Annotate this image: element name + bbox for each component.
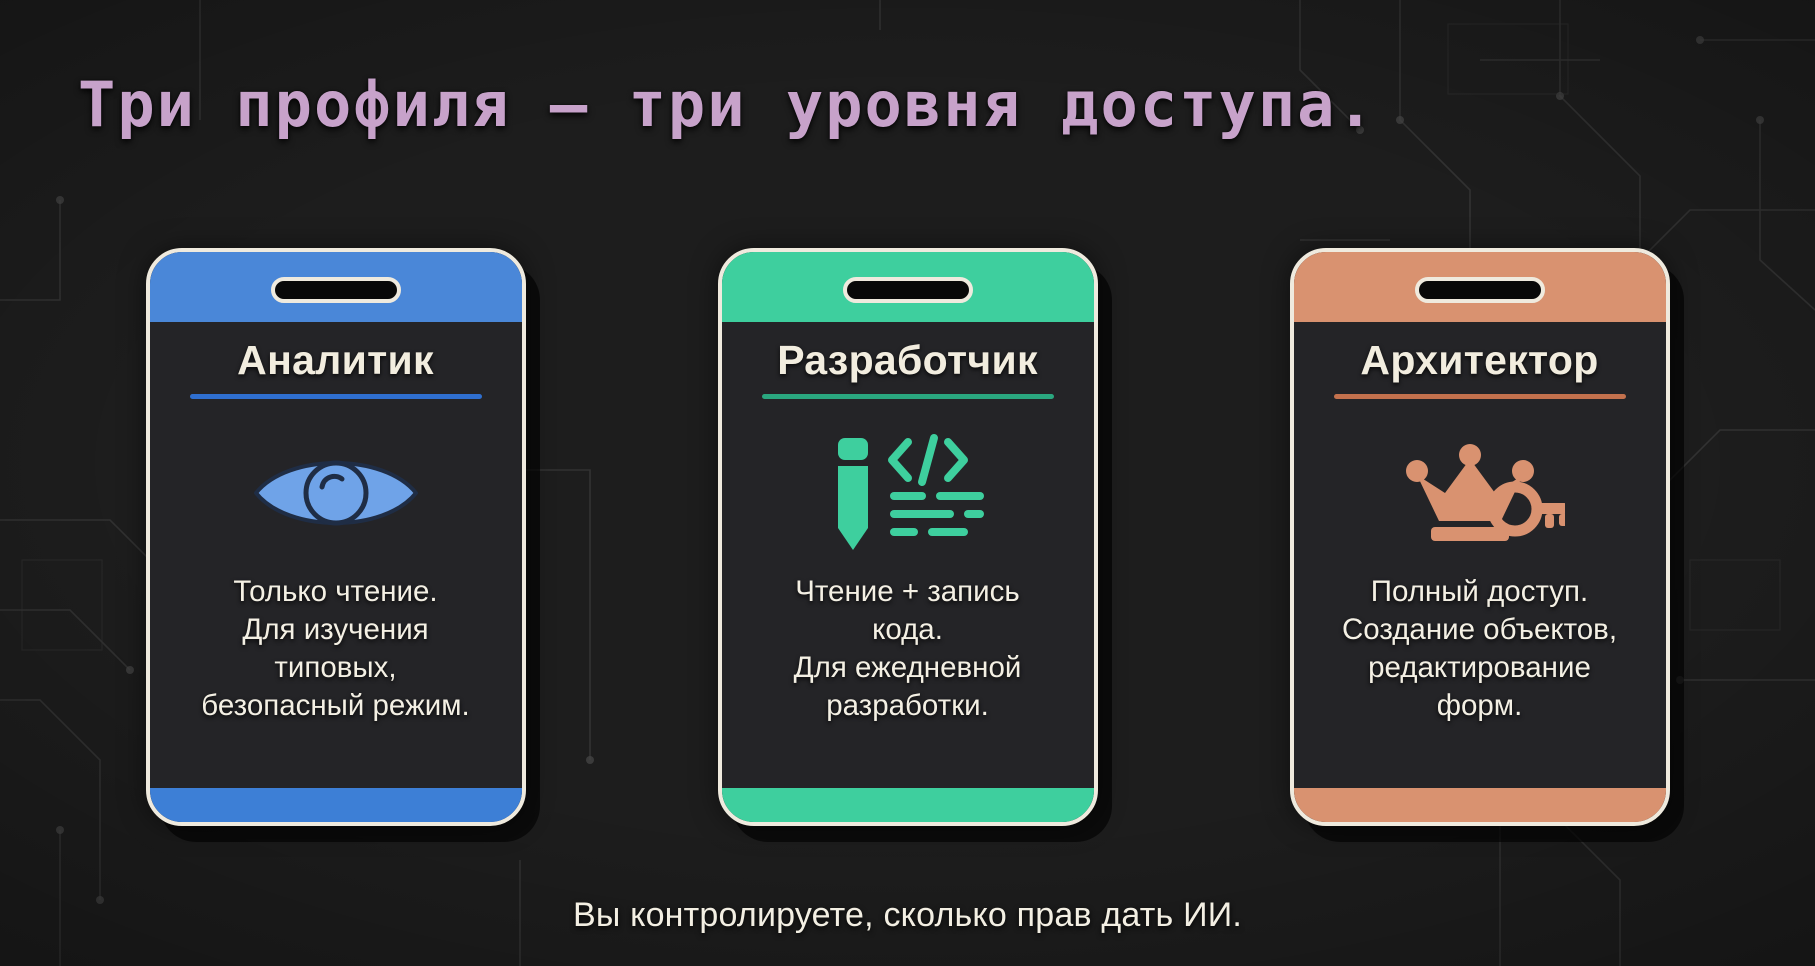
badge-card-analyst[interactable]: Аналитик Только чтение. Для изучения тип… [146,248,526,826]
badge-bottom-strip-analyst [150,788,522,822]
role-icon-wrap-developer [740,429,1076,557]
badge-card-architect[interactable]: Архитектор Полный доступ. Создание [1290,248,1670,826]
role-title-architect: Архитектор [1360,338,1598,382]
badge-top-strip-developer [722,252,1094,322]
crown-key-icon [1395,435,1565,551]
badge-card-developer[interactable]: Разработчик [718,248,1098,826]
role-description-analyst: Только чтение. Для изучения типовых, без… [197,573,473,725]
role-divider-developer [762,394,1054,399]
role-description-developer: Чтение + запись кода. Для ежедневной раз… [790,573,1026,725]
role-divider-analyst [190,394,482,399]
page-title: Три профиля — три уровня доступа. [78,68,1376,141]
footer-caption: Вы контролируете, сколько прав дать ИИ. [0,896,1815,935]
badge-bottom-strip-developer [722,788,1094,822]
lanyard-slot-icon [271,277,401,303]
role-icon-wrap-analyst [168,429,504,557]
badge-top-strip-analyst [150,252,522,322]
badge-body-analyst: Аналитик Только чтение. Для изучения тип… [150,322,522,788]
code-pencil-icon [824,432,992,554]
badge-body-architect: Архитектор Полный доступ. Создание [1294,322,1666,788]
lanyard-slot-icon [843,277,973,303]
role-divider-architect [1334,394,1626,399]
badge-bottom-strip-architect [1294,788,1666,822]
role-icon-wrap-architect [1312,429,1648,557]
role-title-analyst: Аналитик [237,338,434,382]
badge-body-developer: Разработчик [722,322,1094,788]
lanyard-slot-icon [1415,277,1545,303]
role-description-architect: Полный доступ. Создание объектов, редакт… [1338,573,1621,725]
eye-icon [250,443,422,543]
badge-top-strip-architect [1294,252,1666,322]
badge-card-row: Аналитик Только чтение. Для изучения тип… [0,248,1815,826]
role-title-developer: Разработчик [777,338,1038,382]
